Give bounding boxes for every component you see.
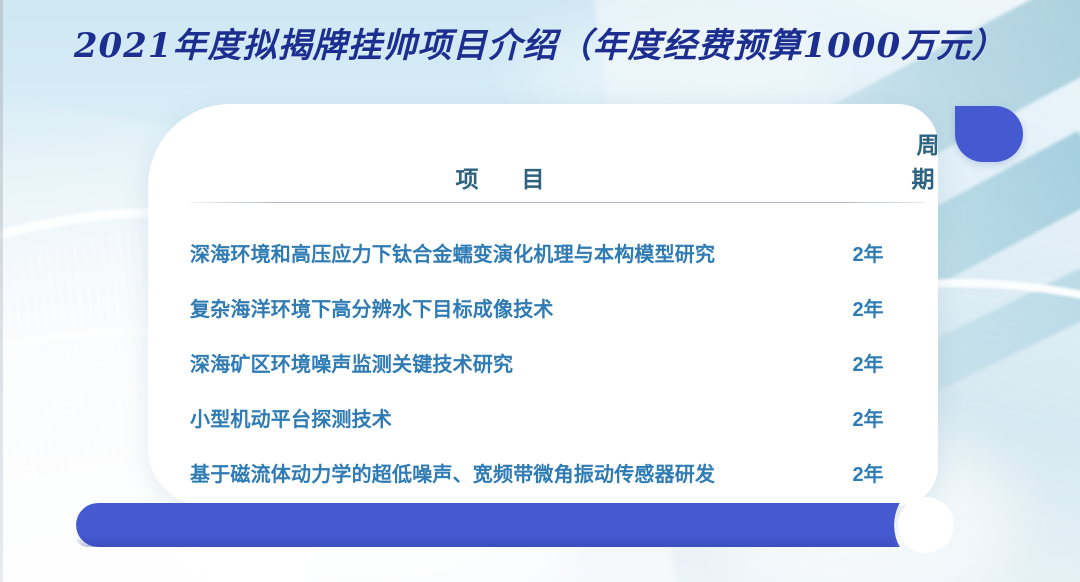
cell-project-name: 小型机动平台探测技术 (190, 403, 810, 432)
column-header-period: 周 期 (890, 126, 966, 194)
table-row: 基于磁流体动力学的超低噪声、宽频带微角振动传感器研发2年 (190, 445, 926, 500)
table-body: 深海环境和高压应力下钛合金蠕变演化机理与本构模型研究2年复杂海洋环境下高分辨水下… (190, 225, 926, 500)
cell-project-name: 深海矿区环境噪声监测关键技术研究 (190, 348, 810, 377)
cell-period: 2年 (810, 403, 926, 432)
table-row: 小型机动平台探测技术2年 (190, 390, 926, 445)
project-table: 项 目 周 期 深海环境和高压应力下钛合金蠕变演化机理与本构模型研究2年复杂海洋… (190, 126, 926, 500)
cell-project-name: 深海环境和高压应力下钛合金蠕变演化机理与本构模型研究 (190, 238, 810, 267)
slide-canvas: 2021年度拟揭牌挂帅项目介绍（年度经费预算1000万元） 项 目 周 期 深海… (0, 0, 1080, 582)
cell-period: 2年 (810, 238, 926, 267)
table-row: 复杂海洋环境下高分辨水下目标成像技术2年 (190, 280, 926, 335)
cell-project-name: 复杂海洋环境下高分辨水下目标成像技术 (190, 293, 810, 322)
table-row: 深海环境和高压应力下钛合金蠕变演化机理与本构模型研究2年 (190, 225, 926, 280)
cell-period: 2年 (810, 293, 926, 322)
left-edge-border (0, 0, 3, 582)
table-row: 深海矿区环境噪声监测关键技术研究2年 (190, 335, 926, 390)
bottom-ribbon (76, 503, 928, 547)
cell-period: 2年 (810, 458, 926, 487)
cell-period: 2年 (810, 348, 926, 377)
bottom-ribbon-notch (898, 497, 954, 553)
bottom-ribbon-bar (76, 503, 928, 547)
slide-title: 2021年度拟揭牌挂帅项目介绍（年度经费预算1000万元） (0, 18, 1080, 67)
column-header-project: 项 目 (190, 160, 890, 194)
cell-project-name: 基于磁流体动力学的超低噪声、宽频带微角振动传感器研发 (190, 458, 810, 487)
header-divider (190, 202, 926, 203)
table-header-row: 项 目 周 期 (190, 126, 926, 202)
